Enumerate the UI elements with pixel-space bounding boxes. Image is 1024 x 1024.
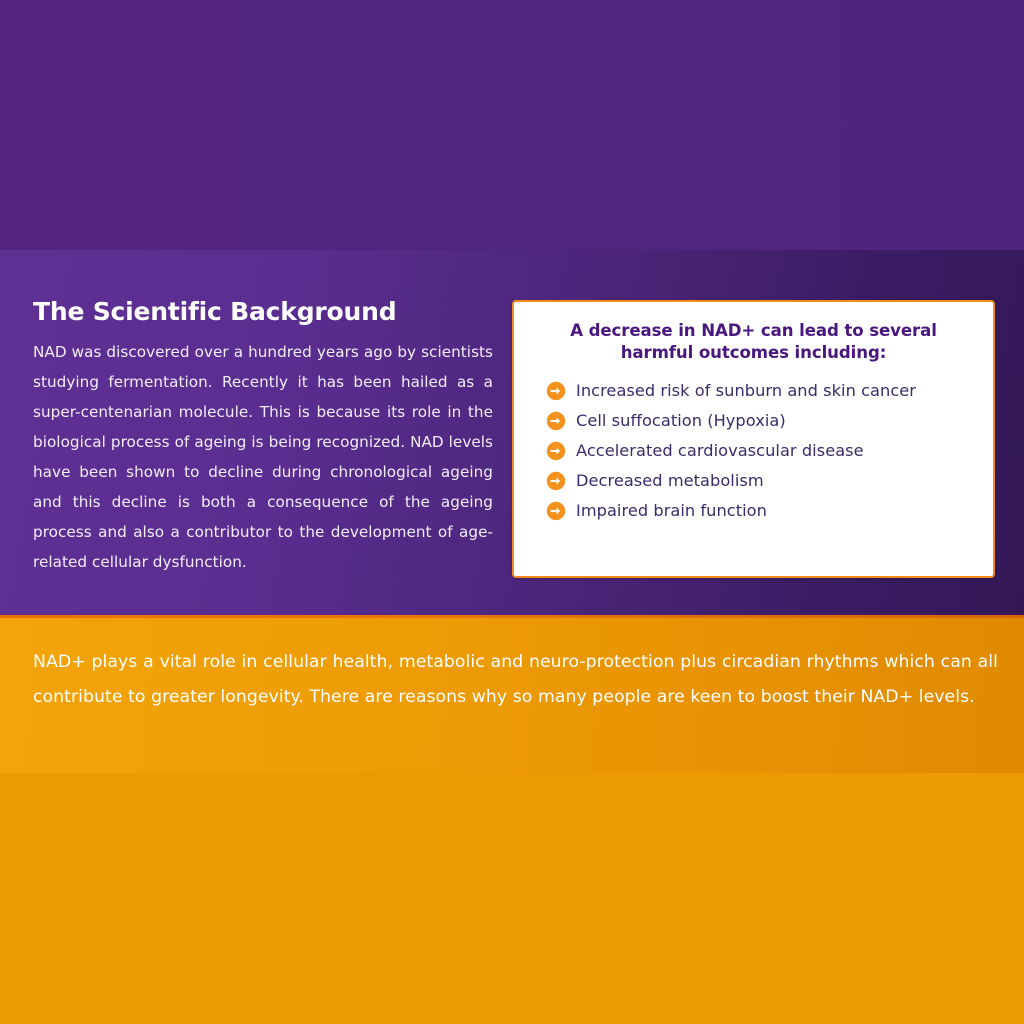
list-item: Impaired brain function [546, 500, 979, 522]
top-purple-band [0, 0, 1024, 250]
harmful-outcomes-list: Increased risk of sunburn and skin cance… [514, 380, 993, 522]
section-title: The Scientific Background [33, 298, 493, 327]
arrow-right-circle-icon [546, 381, 566, 401]
list-item-label: Cell suffocation (Hypoxia) [576, 411, 786, 431]
infographic-page: The Scientific Background NAD was discov… [0, 0, 1024, 1024]
footer-paragraph: NAD+ plays a vital role in cellular heal… [33, 645, 998, 714]
arrow-right-circle-icon [546, 441, 566, 461]
arrow-right-circle-icon [546, 411, 566, 431]
orange-flat-band [0, 773, 1024, 1024]
arrow-right-circle-icon [546, 501, 566, 521]
list-item-label: Impaired brain function [576, 501, 767, 521]
list-item: Accelerated cardiovascular disease [546, 440, 979, 462]
list-item: Decreased metabolism [546, 470, 979, 492]
list-item: Cell suffocation (Hypoxia) [546, 410, 979, 432]
scientific-background-section: The Scientific Background NAD was discov… [33, 298, 493, 578]
harmful-outcomes-card: A decrease in NAD+ can lead to several h… [512, 300, 995, 578]
list-item-label: Accelerated cardiovascular disease [576, 441, 864, 461]
list-item-label: Increased risk of sunburn and skin cance… [576, 381, 916, 401]
section-body-paragraph: NAD was discovered over a hundred years … [33, 337, 493, 578]
list-item: Increased risk of sunburn and skin cance… [546, 380, 979, 402]
arrow-right-circle-icon [546, 471, 566, 491]
list-item-label: Decreased metabolism [576, 471, 764, 491]
card-title: A decrease in NAD+ can lead to several h… [544, 320, 963, 364]
